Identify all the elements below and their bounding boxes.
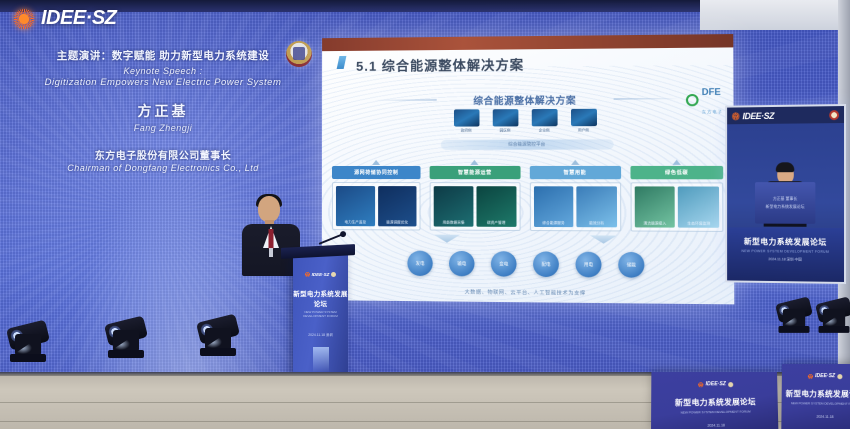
side-display-screen: IDEE·SZ 方正基 董事长 新型电力系统发展论坛 新型电力系统发展论坛 NE…	[725, 104, 846, 284]
column-arrow-icon	[672, 160, 680, 165]
column-thumb: 碳资产管理	[476, 186, 516, 227]
tent-card-title-cn: 新型电力系统发展论坛	[651, 396, 778, 409]
tent-card-title-cn: 新型电力系统发展论坛	[782, 388, 850, 400]
podium-title-en: NEW POWER SYSTEM DEVELOPMENT FORUM	[293, 310, 348, 318]
light-base	[779, 326, 810, 333]
table-tent-card: IDEE·SZ 新型电力系统发展论坛 NEW POWER SYSTEM DEVE…	[781, 364, 850, 429]
speaker-name-cn: 方正基	[22, 101, 304, 121]
side-banner-title-cn: 新型电力系统发展论坛	[727, 236, 844, 248]
slide-title-marker-icon	[337, 56, 347, 69]
column-thumb: 能效分析	[576, 186, 616, 227]
column-thumbs: 用能数据采集 碳资产管理	[430, 182, 520, 231]
column-arrow-icon	[471, 160, 479, 165]
emblem-icon	[331, 272, 336, 277]
slide-column: 绿色低碳 清洁能源接入 生态环境监测	[630, 160, 723, 232]
stage-podium: IDEE·SZ 新型电力系统发展论坛 NEW POWER SYSTEM DEVE…	[293, 255, 348, 375]
moving-head-light	[815, 295, 850, 333]
side-screen-podium: 方正基 董事长 新型电力系统发展论坛	[755, 182, 815, 224]
light-base	[10, 354, 46, 362]
top-tile: 政府侧	[453, 109, 479, 133]
side-banner-date: 2024.11.18 深圳·中国	[727, 257, 844, 263]
column-header: 智慧用能	[529, 166, 621, 179]
side-screen-banner: 新型电力系统发展论坛 NEW POWER SYSTEM DEVELOPMENT …	[727, 227, 844, 282]
speaker-head	[258, 196, 280, 222]
presentation-slide: 5.1 综合能源整体解决方案 DFE 东方电子 综合能源整体解决方案 政府侧 园…	[322, 34, 734, 304]
podium-date: 2024.11.18 深圳	[293, 332, 348, 337]
idee-dotted-circle-icon	[698, 382, 703, 387]
light-base	[819, 326, 850, 333]
column-arrow-icon	[372, 160, 380, 165]
speaker-lanyard-badge	[269, 248, 273, 257]
column-header: 源网荷储协同控制	[332, 166, 421, 179]
light-base	[200, 348, 236, 356]
thumb-caption: 综合能源服务	[533, 221, 573, 226]
slide-column-group: 源网荷储协同控制 电力生产监控 能源调度优化 智慧能源运营 用能数据采集	[332, 160, 723, 232]
podium-title-cn: 新型电力系统发展论坛	[293, 288, 348, 308]
emblem-icon	[728, 382, 733, 387]
tile-image-icon	[492, 109, 518, 126]
speaker-necktie	[269, 229, 274, 249]
speaker-org-en: Chairman of Dongfang Electronics Co., Lt…	[22, 163, 304, 173]
speaker-hair	[776, 162, 795, 172]
column-thumb: 电力生产监控	[336, 186, 375, 226]
emblem-icon	[829, 110, 839, 120]
tent-card-date: 2024.11.18	[651, 422, 778, 429]
slide-top-banner	[322, 34, 733, 51]
circle-node: 输电	[449, 251, 475, 277]
tile-image-icon	[453, 109, 479, 126]
podium-logo: IDEE·SZ	[301, 271, 341, 278]
top-tile: 用户侧	[570, 109, 596, 134]
keynote-topic-en-line2: Digitization Empowers New Electric Power…	[22, 77, 304, 88]
tent-card-brand: IDEE·SZ	[706, 381, 726, 387]
column-thumb: 综合能源服务	[533, 186, 573, 227]
emblem-icon	[837, 374, 842, 379]
thumb-caption: 生态环境监测	[678, 221, 719, 226]
venue-brand-logo: IDEE·SZ	[14, 7, 116, 30]
tent-card-logo: IDEE·SZ	[651, 381, 777, 388]
thumb-caption: 能效分析	[577, 221, 617, 226]
tent-card-title-en: NEW POWER SYSTEM DEVELOPMENT FORUM	[651, 409, 778, 415]
thumb-caption: 用能数据采集	[434, 220, 473, 225]
moving-head-light	[6, 318, 50, 362]
slide-center-heading: 综合能源整体解决方案	[322, 92, 733, 108]
column-thumbs: 电力生产监控 能源调度优化	[332, 182, 421, 230]
slide-circle-row: 发电 输电 变电 配电 用电 储能	[322, 250, 734, 278]
side-podium-line2: 新型电力系统发展论坛	[755, 204, 815, 210]
light-base	[108, 350, 144, 358]
tent-card-brand: IDEE·SZ	[815, 373, 835, 379]
keynote-topic-en-line1: Keynote Speech :	[22, 66, 304, 76]
keynote-topic-cn: 主题演讲：数字赋能 助力新型电力系统建设	[22, 48, 304, 63]
thumb-caption: 能源调度优化	[378, 220, 417, 225]
room-ceiling-right	[700, 0, 850, 30]
circle-node: 配电	[533, 251, 559, 277]
tile-label: 用户侧	[571, 128, 597, 133]
podium-light-glow	[313, 347, 329, 373]
idee-dotted-circle-icon	[808, 374, 813, 379]
thumb-caption: 电力生产监控	[336, 220, 375, 225]
side-banner-title-en: NEW POWER SYSTEM DEVELOPMENT FORUM	[727, 249, 844, 254]
speaker-name-en: Fang Zhengji	[22, 123, 304, 133]
slide-footer-text: 大数据、物联网、云平台、人工智能技术为支撑	[322, 287, 734, 298]
circle-node: 发电	[407, 251, 432, 276]
column-header: 智慧能源运营	[430, 166, 520, 179]
top-tile: 企业侧	[531, 109, 557, 133]
tile-label: 园区侧	[492, 128, 518, 133]
tent-card-title-en: NEW POWER SYSTEM DEVELOPMENT FORUM	[782, 401, 850, 406]
top-tile: 园区侧	[492, 109, 518, 133]
circle-node: 变电	[491, 251, 517, 277]
side-podium-line1: 方正基 董事长	[755, 196, 815, 202]
column-thumb: 能源调度优化	[378, 186, 417, 226]
slide-column: 智慧用能 综合能源服务 能效分析	[529, 160, 621, 232]
tile-label: 政府侧	[453, 129, 478, 134]
circle-node: 用电	[575, 252, 601, 278]
thumb-caption: 碳资产管理	[476, 221, 516, 226]
speaker-org-cn: 东方电子股份有限公司董事长	[22, 147, 304, 162]
podium-brand-text: IDEE·SZ	[312, 272, 330, 277]
slide-flow-arrows	[322, 234, 734, 244]
tent-card-logo: IDEE·SZ	[782, 373, 850, 379]
column-thumb: 生态环境监测	[678, 186, 719, 227]
column-thumbs: 清洁能源接入 生态环境监测	[630, 182, 723, 232]
idee-dotted-circle-icon	[14, 9, 34, 29]
column-thumb: 清洁能源接入	[634, 186, 675, 227]
moving-head-light	[104, 314, 148, 358]
thumb-caption: 清洁能源接入	[635, 221, 676, 226]
moving-head-light	[196, 312, 240, 356]
side-screen-brand: IDEE·SZ	[742, 110, 774, 120]
slide-column: 智慧能源运营 用能数据采集 碳资产管理	[430, 160, 520, 231]
tile-image-icon	[531, 109, 557, 126]
column-thumbs: 综合能源服务 能效分析	[529, 182, 621, 231]
tile-image-icon	[570, 109, 596, 126]
column-header: 绿色低碳	[630, 166, 723, 179]
flow-arrow-icon	[434, 235, 460, 243]
column-thumb: 用能数据采集	[434, 186, 473, 227]
tile-label: 企业侧	[531, 128, 557, 133]
circle-node: 储能	[618, 252, 644, 278]
conference-photo-scene: IDEE·SZ 主题演讲：数字赋能 助力新型电力系统建设 Keynote Spe…	[0, 0, 850, 429]
platform-bar: 综合能源管控平台	[441, 139, 614, 149]
table-tent-card: IDEE·SZ 新型电力系统发展论坛 NEW POWER SYSTEM DEVE…	[651, 372, 778, 429]
idee-dotted-circle-icon	[732, 112, 740, 120]
column-arrow-icon	[571, 160, 579, 165]
slide-column: 源网荷储协同控制 电力生产监控 能源调度优化	[332, 160, 421, 231]
keynote-title-block: 主题演讲：数字赋能 助力新型电力系统建设 Keynote Speech : Di…	[22, 48, 304, 173]
idee-dotted-circle-icon	[305, 272, 310, 277]
side-screen-topbar: IDEE·SZ	[727, 106, 844, 124]
venue-brand-text: IDEE·SZ	[41, 7, 116, 30]
moving-head-light	[775, 295, 813, 333]
slide-title: 5.1 综合能源整体解决方案	[356, 54, 524, 74]
slide-top-tiles: 政府侧 园区侧 企业侧 用户侧	[322, 108, 734, 134]
flow-arrow-icon	[590, 235, 617, 243]
tent-card-date: 2024.11.18	[781, 414, 850, 419]
